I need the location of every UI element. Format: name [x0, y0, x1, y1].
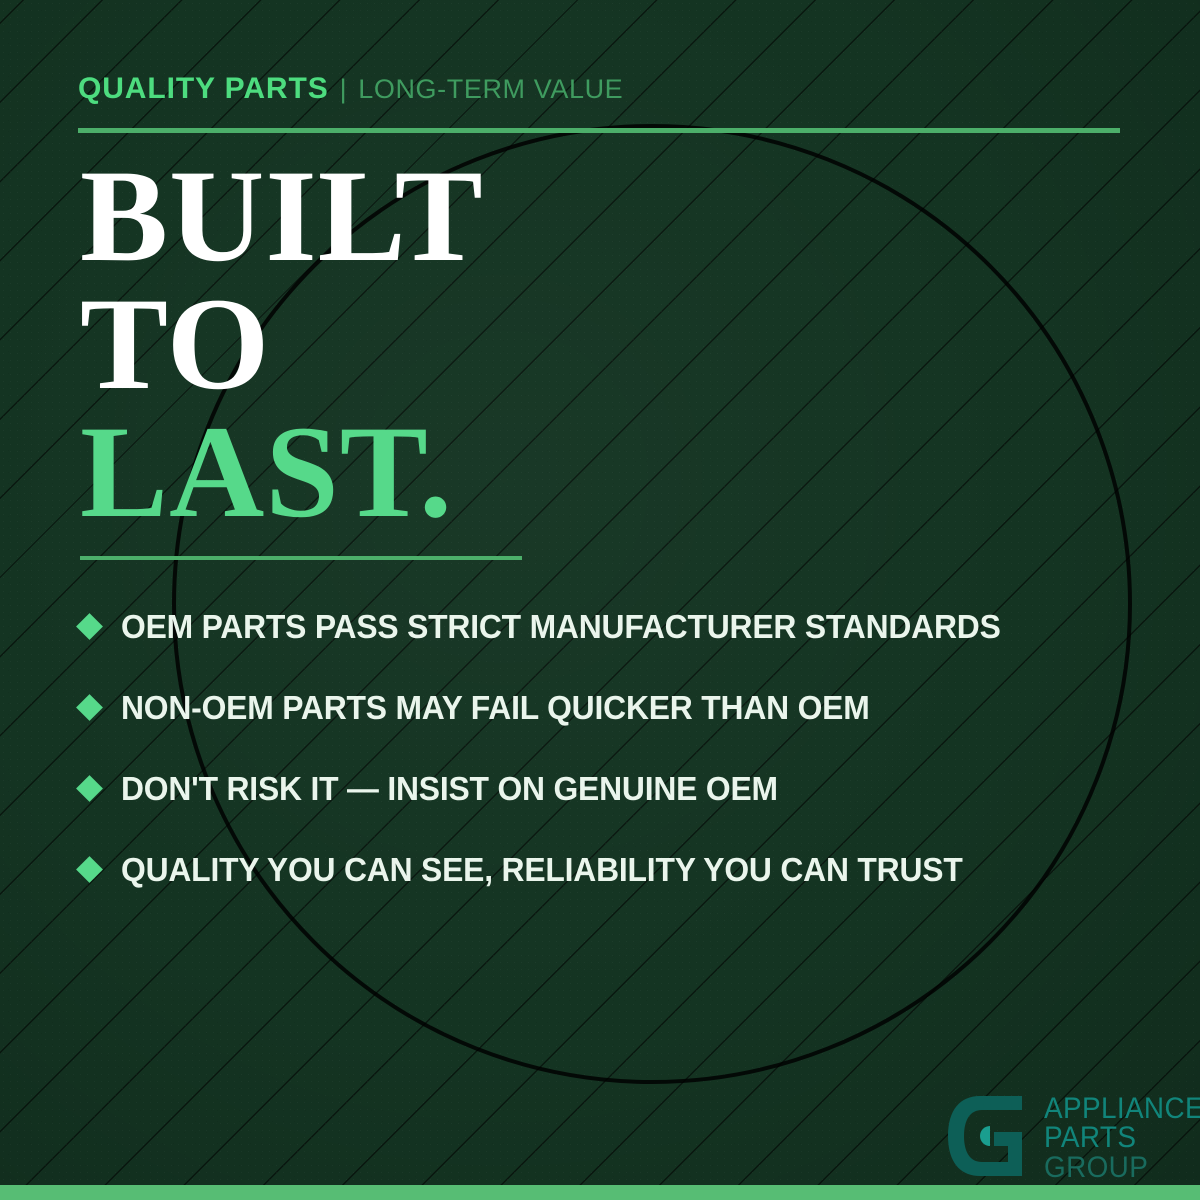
brand-word-appliance: APPLIANCE — [1044, 1094, 1200, 1123]
promo-poster: QUALITY PARTS | LONG-TERM VALUE BUILT TO… — [0, 0, 1200, 1200]
header-divider — [78, 128, 1120, 133]
list-item-label: NON-OEM PARTS MAY FAIL QUICKER THAN OEM — [121, 689, 870, 727]
brand-word-parts: PARTS — [1044, 1123, 1200, 1152]
brand-logo-wordmark: APPLIANCE PARTS GROUP — [1044, 1092, 1200, 1182]
headline-line-1: BUILT — [80, 152, 484, 280]
list-item: DON'T RISK IT — INSIST ON GENUINE OEM — [80, 748, 1140, 829]
diamond-icon — [76, 613, 103, 640]
headline: BUILT TO LAST. — [80, 152, 484, 536]
diamond-icon — [76, 694, 103, 721]
headline-divider — [80, 556, 522, 560]
list-item-label: DON'T RISK IT — INSIST ON GENUINE OEM — [121, 770, 778, 808]
brand-word-group: GROUP — [1044, 1153, 1200, 1182]
list-item-label: QUALITY YOU CAN SEE, RELIABILITY YOU CAN… — [121, 851, 963, 889]
benefit-list: OEM PARTS PASS STRICT MANUFACTURER STAND… — [80, 586, 1140, 910]
bottom-accent-bar — [0, 1185, 1200, 1200]
headline-line-2: TO — [80, 280, 484, 408]
diamond-icon — [76, 856, 103, 883]
list-item-label: OEM PARTS PASS STRICT MANUFACTURER STAND… — [121, 608, 1001, 646]
headline-line-3: LAST. — [80, 408, 484, 536]
brand-logo: APPLIANCE PARTS GROUP — [944, 1092, 1200, 1185]
diamond-icon — [76, 775, 103, 802]
g-monogram-icon — [944, 1092, 1030, 1185]
list-item: NON-OEM PARTS MAY FAIL QUICKER THAN OEM — [80, 667, 1140, 748]
kicker-subtitle: LONG-TERM VALUE — [358, 74, 623, 105]
list-item: OEM PARTS PASS STRICT MANUFACTURER STAND… — [80, 586, 1140, 667]
kicker-separator: | — [340, 74, 348, 105]
header-kicker-row: QUALITY PARTS | LONG-TERM VALUE — [78, 72, 1120, 106]
list-item: QUALITY YOU CAN SEE, RELIABILITY YOU CAN… — [80, 829, 1140, 910]
kicker-label: QUALITY PARTS — [78, 72, 329, 106]
